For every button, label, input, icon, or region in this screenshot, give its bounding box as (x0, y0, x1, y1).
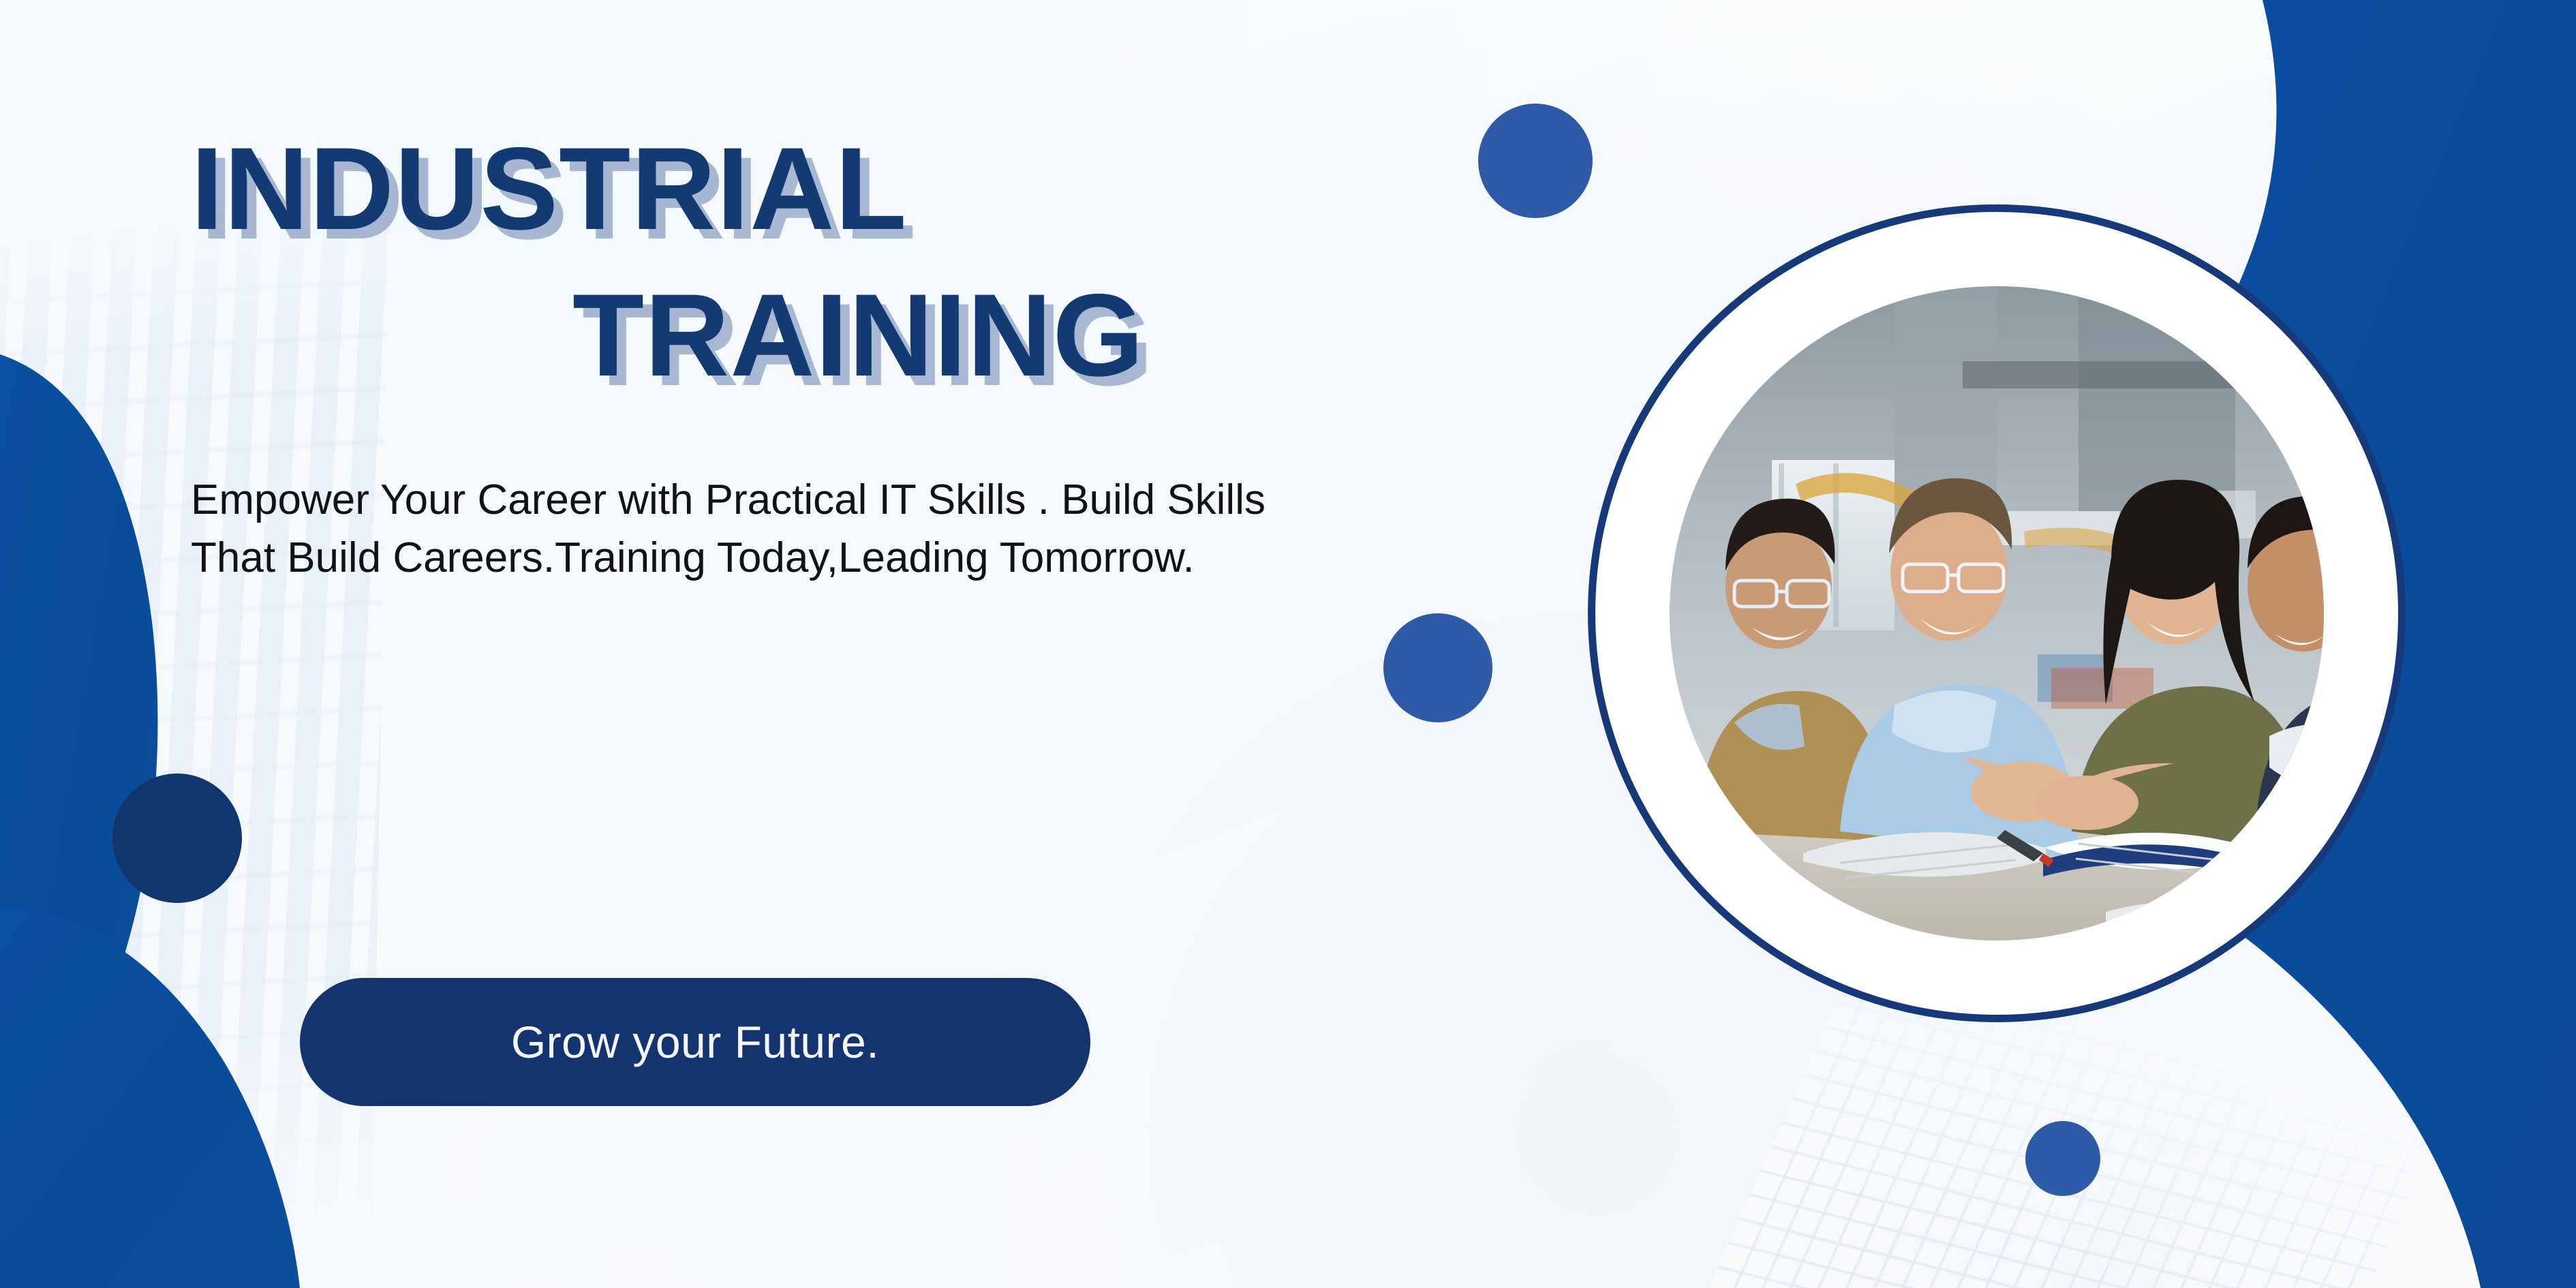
dot-top-right-blue (1478, 104, 1593, 218)
grow-your-future-button[interactable]: Grow your Future. (300, 978, 1090, 1106)
team-photo: Four smiling professionals seated at a t… (1670, 286, 2324, 940)
headline-line-1: INDUSTRIAL (191, 129, 1486, 249)
copy-block: INDUSTRIAL TRAINING Empower Your Career … (191, 129, 1486, 587)
promo-banner: Four smiling professionals seated at a t… (0, 0, 2576, 1288)
subheading: Empower Your Career with Practical IT Sk… (191, 471, 1349, 587)
headline-line-2: TRAINING (191, 276, 1486, 395)
headline-block: INDUSTRIAL TRAINING (191, 129, 1486, 396)
dot-left-navy (112, 773, 242, 903)
dot-bottom-right-blue (2025, 1121, 2100, 1196)
dot-mid-right-blue (1383, 613, 1492, 722)
